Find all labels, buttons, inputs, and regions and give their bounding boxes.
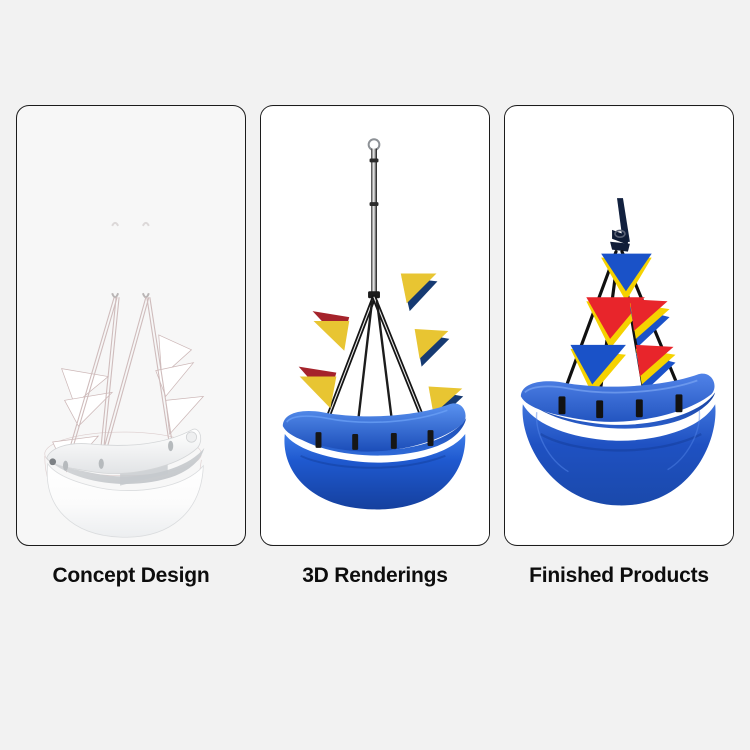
stage-gallery: Concept Design xyxy=(0,105,750,587)
concept-planter-basket xyxy=(47,429,205,537)
stage-card-finished-products[interactable] xyxy=(504,105,734,546)
concept-hook-loops xyxy=(112,223,149,297)
concept-design-svg xyxy=(17,106,245,545)
finished-product-photo xyxy=(505,106,733,545)
three-d-rendering-svg xyxy=(261,106,489,545)
stage-label-finished-products: Finished Products xyxy=(529,564,709,587)
stage-3d-renderings[interactable]: 3D Renderings xyxy=(259,105,491,587)
stage-card-3d-renderings[interactable] xyxy=(260,105,490,546)
concept-design-illustration xyxy=(17,106,245,545)
stage-label-concept-design: Concept Design xyxy=(52,564,209,587)
stage-concept-design[interactable]: Concept Design xyxy=(15,105,247,587)
stage-label-3d-renderings: 3D Renderings xyxy=(302,564,448,587)
finished-product-svg xyxy=(505,106,733,545)
stage-card-concept-design[interactable] xyxy=(16,105,246,546)
product-stages-page: Concept Design xyxy=(0,0,750,750)
stage-finished-products[interactable]: Finished Products xyxy=(503,105,735,587)
three-d-rendering-illustration xyxy=(261,106,489,545)
